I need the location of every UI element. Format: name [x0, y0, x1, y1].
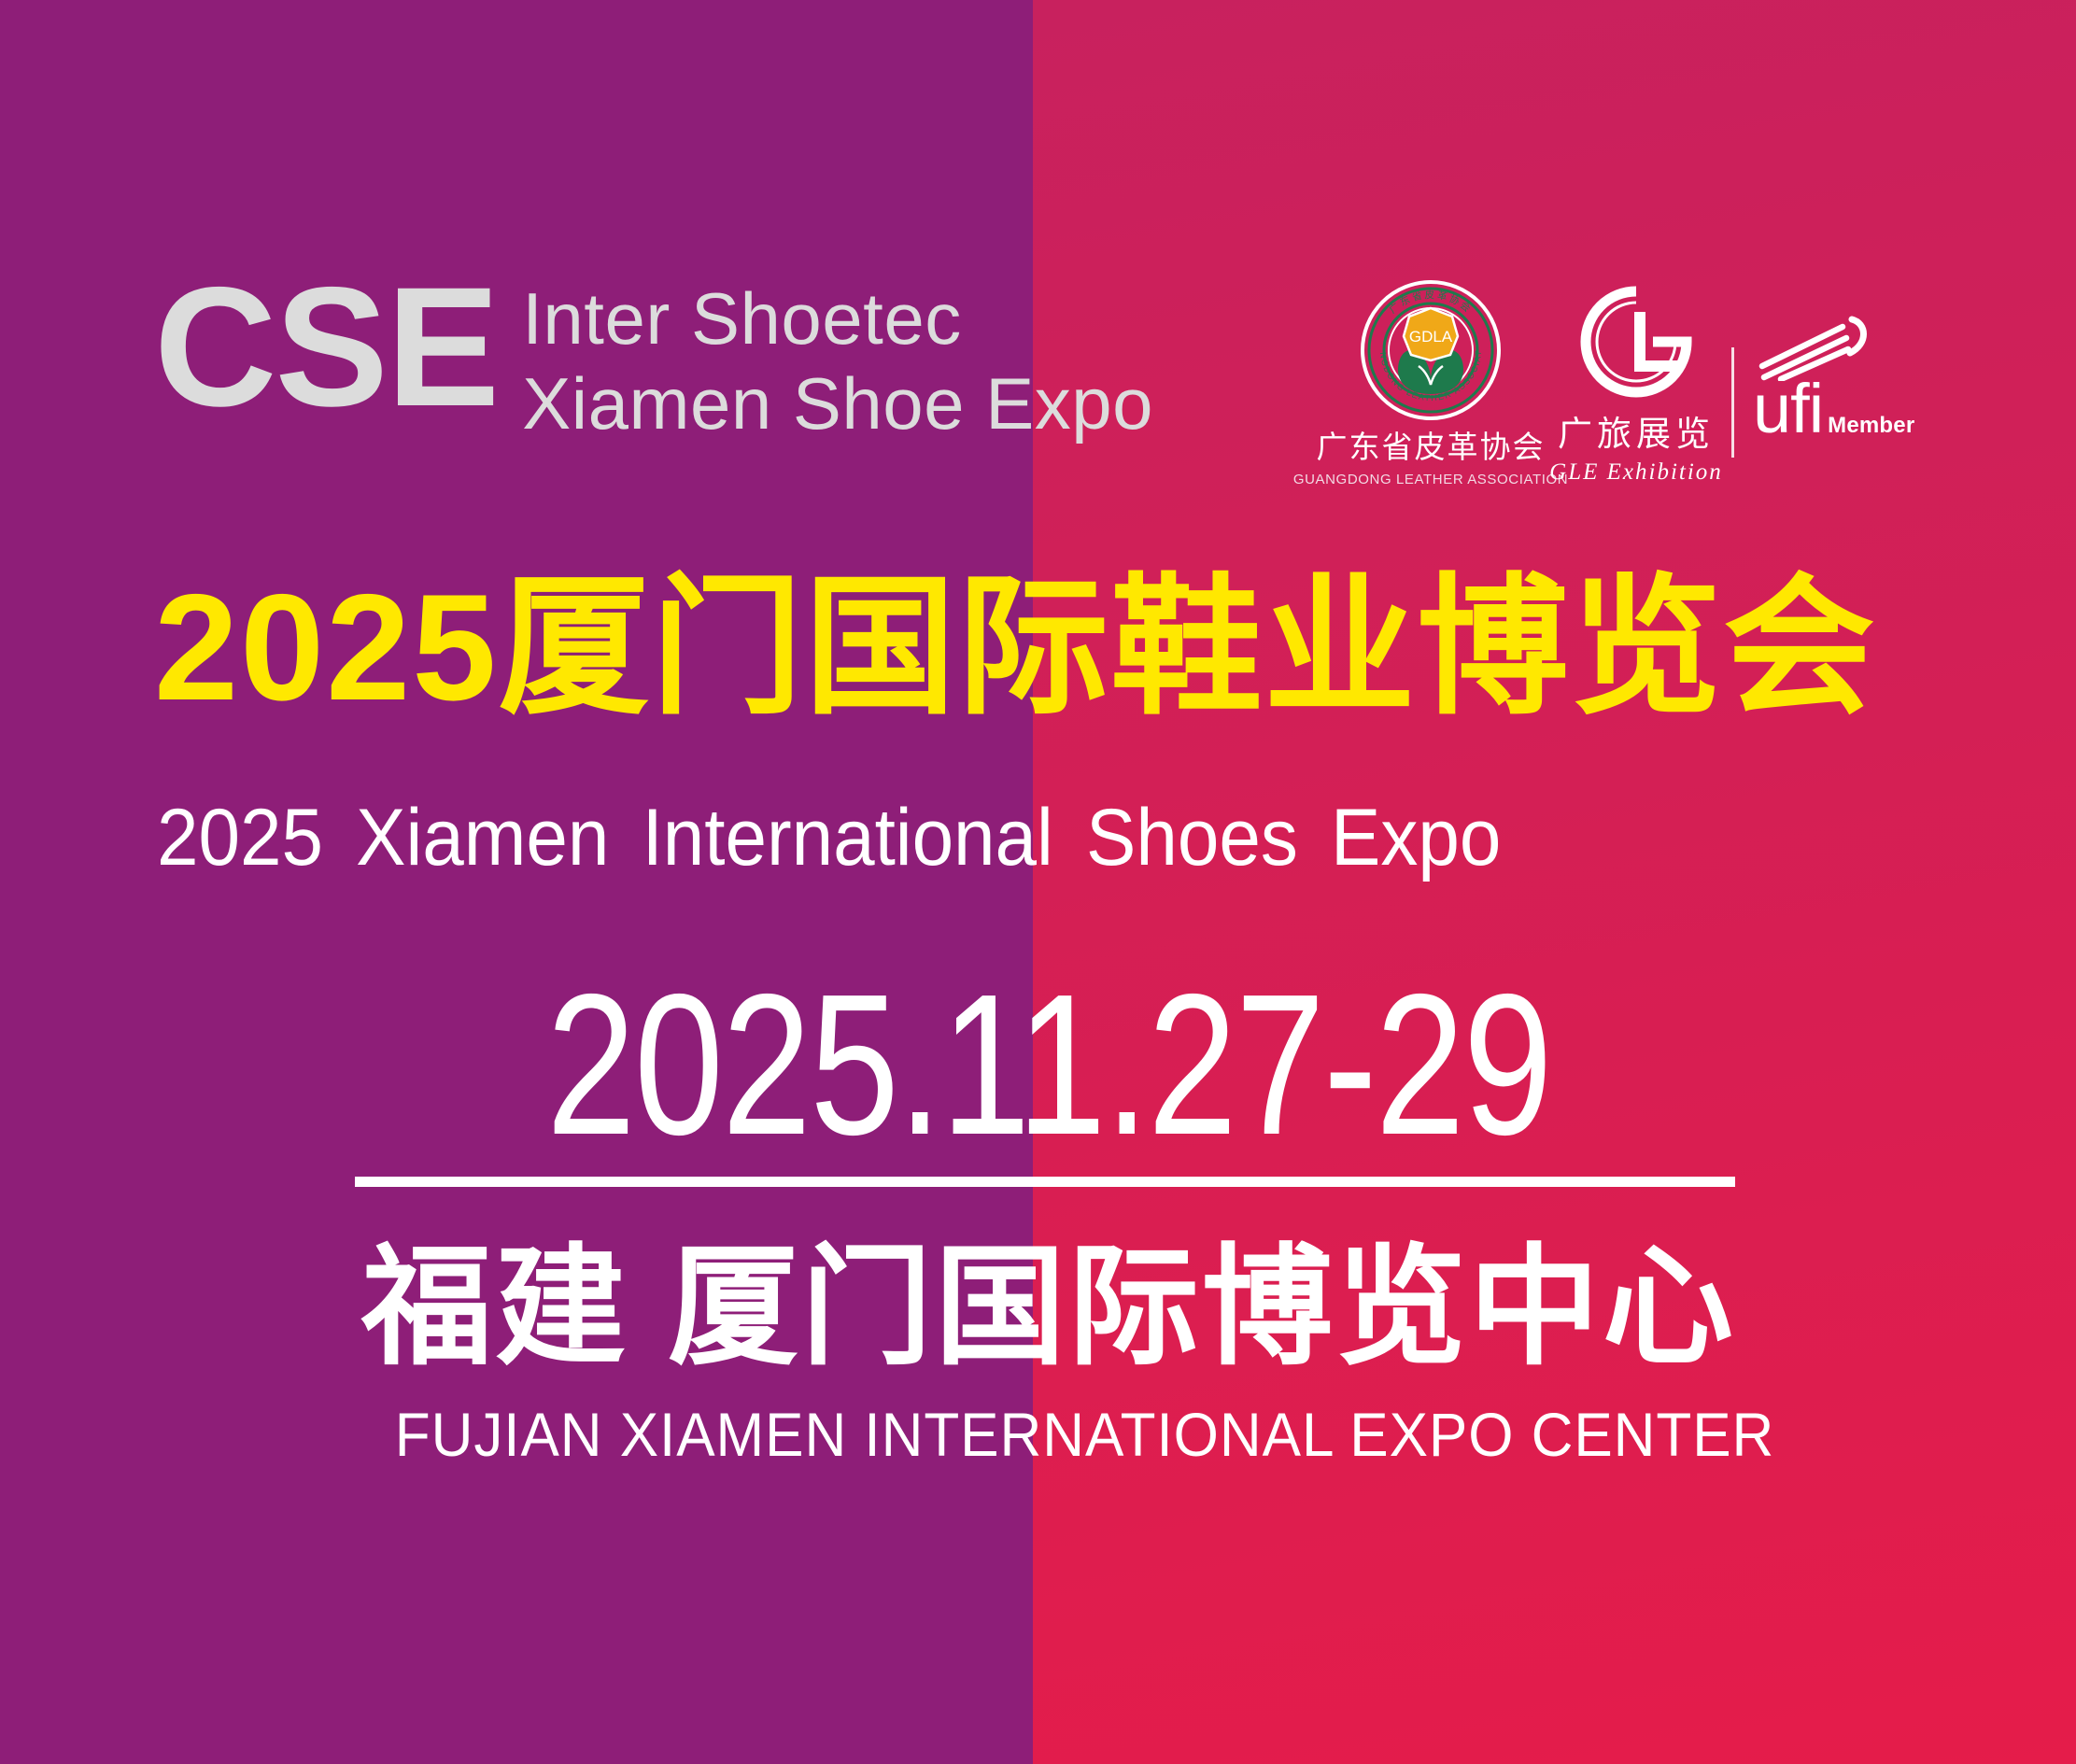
gdla-name-cn: 广东省皮革协会 [1317, 422, 1546, 467]
event-title-cn: 2025厦门国际鞋业博览会 [154, 568, 1956, 728]
cse-wordmark-line2: Xiamen Shoe Expo [522, 361, 1153, 446]
ufi-member-label: Member [1828, 413, 1914, 439]
gle-name-cn: 广旅展览 [1558, 405, 1715, 456]
cse-wordmark-line1: Inter Shoetec [522, 276, 1153, 361]
cse-wordmark: Inter Shoetec Xiamen Shoe Expo [522, 269, 1153, 447]
logo-separator-rule [1731, 347, 1734, 458]
gdla-monogram-text: GDLA [1409, 328, 1453, 346]
ufi-member-logo: ufi Member [1753, 312, 1914, 439]
section-divider-rule [355, 1177, 1735, 1187]
gdla-emblem-icon: GDLA 广东省皮革协会 GUANGDONG LEATHER ASSOCIATI… [1361, 280, 1501, 420]
gle-logo: 广旅展览 GLE Exhibition [1545, 280, 1728, 486]
event-venue-cn: 福建 厦门国际博览中心 [353, 1235, 1744, 1381]
gdla-name-en: GUANGDONG LEATHER ASSOCIATION [1293, 472, 1568, 487]
ufi-wordmark: ufi [1753, 381, 1823, 436]
gle-name-en: GLE Exhibition [1549, 459, 1723, 486]
cse-monogram: CSE [154, 269, 498, 425]
event-date: 2025.11.27-29 [492, 964, 1605, 1164]
event-title-en: 2025 Xiamen International Shoes Expo [157, 794, 1846, 882]
gdla-logo: GDLA 广东省皮革协会 GUANGDONG LEATHER ASSOCIATI… [1337, 280, 1524, 487]
gle-emblem-icon [1575, 280, 1698, 403]
cse-logo-lockup: CSE Inter Shoetec Xiamen Shoe Expo [154, 269, 1153, 447]
expo-promo-banner: CSE Inter Shoetec Xiamen Shoe Expo GDLA [0, 0, 2076, 1764]
partner-logo-strip: GDLA 广东省皮革协会 GUANGDONG LEATHER ASSOCIATI… [1337, 280, 1914, 487]
event-venue-en: FUJIAN XIAMEN INTERNATIONAL EXPO CENTER [395, 1401, 1704, 1469]
